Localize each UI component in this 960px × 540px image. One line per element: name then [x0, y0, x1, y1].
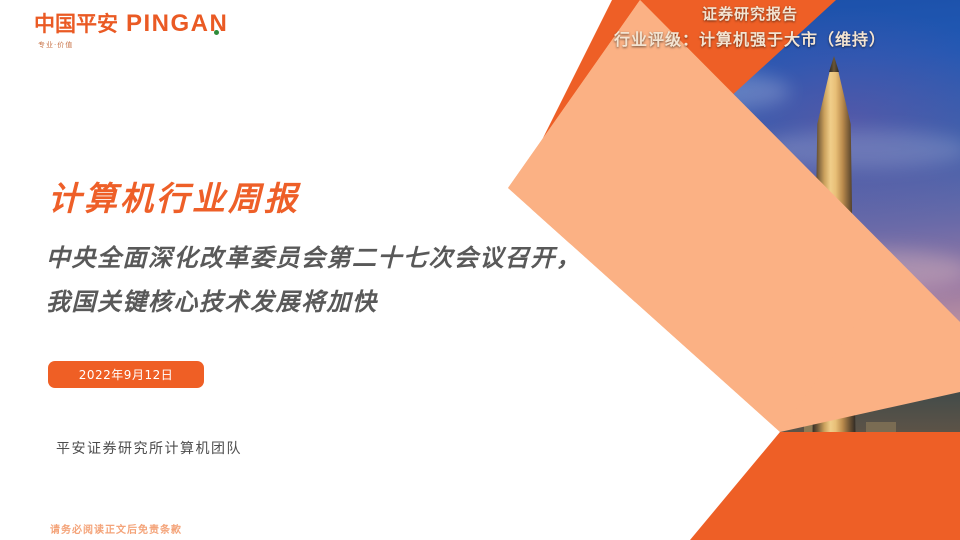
logo-chinese-text: 中国平安: [34, 14, 118, 35]
report-type-label: 证券研究报告: [540, 4, 960, 26]
header-text-block: 证券研究报告 行业评级：计算机强于大市（维持）: [540, 4, 960, 51]
pingan-logo[interactable]: 中国平安 PINGAN 专业·价值: [34, 12, 228, 50]
publish-date-badge: 2022年9月12日: [48, 361, 204, 388]
subtitle-line-2: 我国关键核心技术发展将加快: [46, 280, 582, 324]
logo-english-text: PINGAN: [126, 12, 228, 36]
report-cover-slide: 证券研究报告 行业评级：计算机强于大市（维持） 中国平安 PINGAN 专业·价…: [0, 0, 960, 540]
page-title: 计算机行业周报: [48, 172, 300, 220]
subtitle-line-1: 中央全面深化改革委员会第二十七次会议召开，: [46, 236, 582, 280]
industry-rating-label: 行业评级：计算机强于大市（维持）: [540, 28, 960, 51]
page-subtitle: 中央全面深化改革委员会第二十七次会议召开， 我国关键核心技术发展将加快: [46, 236, 582, 325]
research-team-label: 平安证券研究所计算机团队: [56, 438, 242, 458]
disclaimer-note: 请务必阅读正文后免责条款: [50, 521, 182, 536]
logo-tagline: 专业·价值: [38, 40, 228, 50]
logo-row: 中国平安 PINGAN: [34, 12, 228, 36]
logo-english-label: PINGAN: [126, 10, 228, 37]
